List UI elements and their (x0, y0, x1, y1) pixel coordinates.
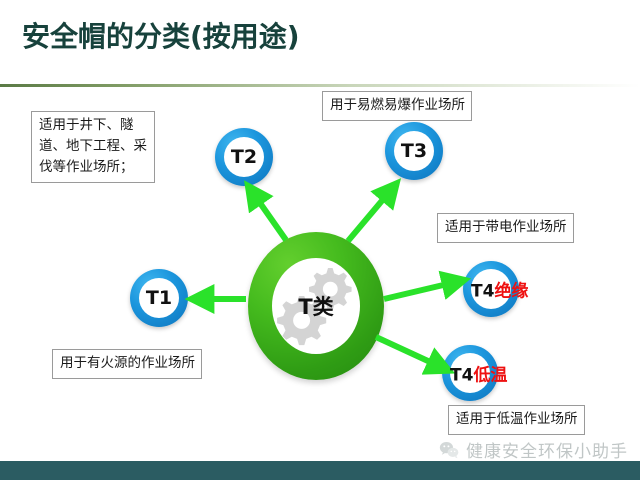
callout-t1: 用于有火源的作业场所 (52, 349, 202, 379)
node-t2-label: T2 (231, 146, 257, 168)
arrow-to-t2 (253, 193, 286, 240)
wechat-icon (438, 439, 460, 461)
slide-canvas: 安全帽的分类(按用途) = (0, 0, 640, 480)
watermark-text: 健康安全环保小助手 (466, 437, 628, 462)
node-t4-insulation-label: T4绝缘 (471, 277, 528, 302)
callout-t4-lowtemp: 适用于低温作业场所 (448, 405, 585, 435)
node-t2[interactable]: T2 (215, 128, 273, 186)
title-divider (0, 84, 640, 87)
hub-node-t-class[interactable]: T类 (248, 232, 384, 380)
arrow-to-t3 (348, 190, 391, 241)
node-t1[interactable]: T1 (130, 269, 188, 327)
node-t4-insulation[interactable]: T4绝缘 (463, 261, 519, 317)
node-t4-insulation-suffix: 绝缘 (494, 282, 528, 302)
callout-t4-insulation: 适用于带电作业场所 (437, 213, 574, 243)
bottom-bar (0, 461, 640, 480)
node-t3-label: T3 (401, 140, 427, 162)
page-title: 安全帽的分类(按用途) (22, 22, 300, 53)
node-t1-label: T1 (146, 287, 172, 309)
watermark: 健康安全环保小助手 (438, 437, 628, 462)
arrow-to-t4-insulation (384, 282, 456, 299)
node-t4-lowtemp-suffix: 低温 (473, 366, 507, 386)
node-t4-lowtemp-prefix: T4 (450, 366, 473, 386)
node-t4-lowtemp-label: T4低温 (450, 361, 507, 386)
node-t3[interactable]: T3 (385, 122, 443, 180)
node-t4-lowtemp[interactable]: T4低温 (442, 345, 498, 401)
node-t4-insulation-prefix: T4 (471, 282, 494, 302)
callout-t2: 适用于井下、隧道、地下工程、采伐等作业场所； (31, 111, 155, 183)
arrow-to-t4-lowtemp: = (376, 0, 443, 367)
callout-t3: 用于易燃易爆作业场所 (322, 91, 472, 121)
hub-label: T类 (298, 291, 333, 321)
